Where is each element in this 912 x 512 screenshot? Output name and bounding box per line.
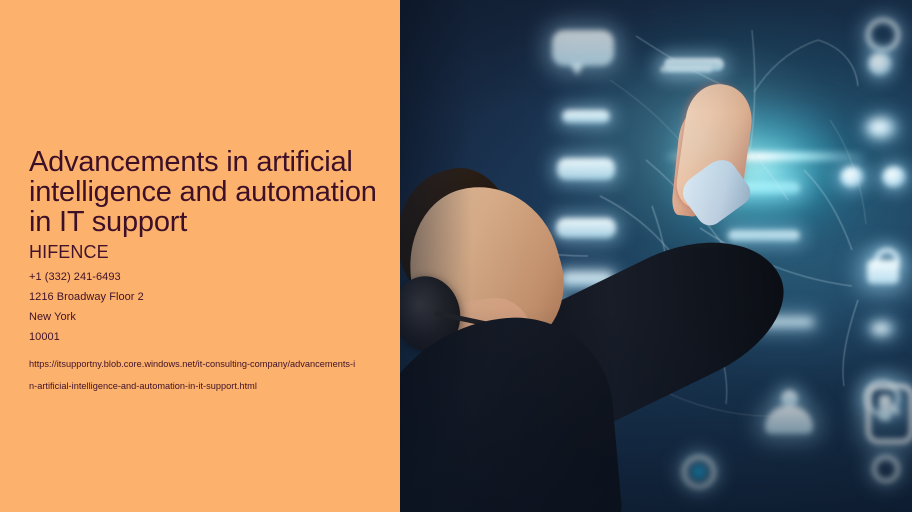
page-title: Advancements in artificial intelligence … (29, 147, 379, 237)
source-url[interactable]: https://itsupportny.blob.core.windows.ne… (29, 353, 359, 397)
poster-canvas: Advancements in artificial intelligence … (0, 0, 912, 512)
contact-list: +1 (332) 241-6493 1216 Broadway Floor 2 … (29, 267, 379, 347)
photo-stage (400, 0, 912, 512)
contact-city: New York (29, 307, 379, 327)
contact-phone: +1 (332) 241-6493 (29, 267, 379, 287)
info-panel: Advancements in artificial intelligence … (0, 0, 400, 512)
photo-vignette (400, 0, 912, 512)
brand-name: HIFENCE (29, 241, 379, 263)
hero-photo (400, 0, 912, 512)
contact-zip: 10001 (29, 327, 379, 347)
text-block: Advancements in artificial intelligence … (29, 147, 379, 397)
contact-street: 1216 Broadway Floor 2 (29, 287, 379, 307)
